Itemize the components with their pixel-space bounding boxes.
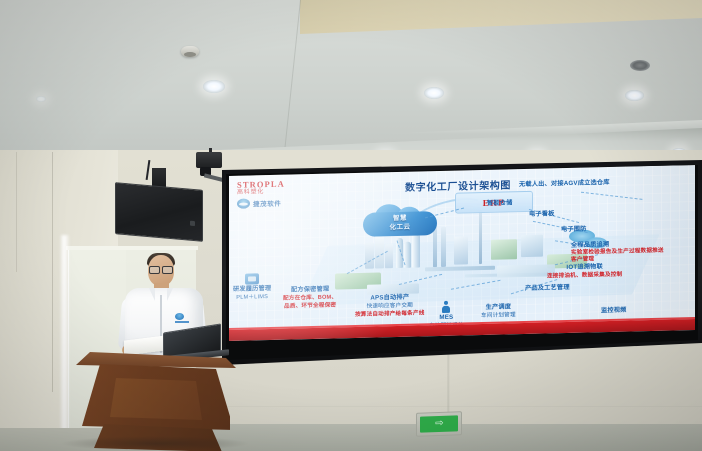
downlight-3 — [625, 90, 644, 101]
cloud-platform-graphic: 智慧 化工云 — [363, 203, 437, 241]
rd-history-icon — [245, 273, 259, 284]
left-wall-seam — [52, 152, 53, 392]
screen-face: STROPLA 高科塑化 捷茂软件 数字化工厂设计架构图 — [226, 164, 698, 360]
node-scheduling: 生产调度 车间计划管理 — [481, 303, 516, 320]
slide-logo: STROPLA 高科塑化 捷茂软件 — [237, 179, 325, 209]
node-sublabel: 车间计划管理 — [481, 311, 516, 320]
mes-person-icon — [441, 301, 451, 313]
conference-room-photo: ⇨ STROPLA 高科塑化 捷茂软件 数字化工厂设计架构图 — [0, 0, 702, 451]
node-quality-full: 全程品质追溯 实验室检验报告及生产过程数据推送客户管理 — [571, 240, 667, 264]
node-iot-trace: IOT追溯物联 连接排油机、数据采集及控制 — [547, 263, 622, 281]
node-product-process: 产品及工艺管理 — [525, 284, 570, 293]
factory-building — [365, 243, 374, 269]
node-video-monitor: 监控视频 — [601, 307, 627, 316]
presenter-collar-left — [149, 288, 155, 301]
partner-name-cn: 捷茂软件 — [253, 198, 281, 209]
doorway-light-gap — [60, 235, 69, 451]
node-e-fence: 电子围防 — [561, 226, 587, 235]
wall-speaker-icon — [115, 182, 203, 242]
node-sublabel: PLM＋LIMS — [233, 293, 271, 302]
presenter-collar-right — [167, 288, 173, 301]
node-redlabel: 配方在仓库、BOM、 品质、环节全程保密 — [283, 293, 337, 310]
glasses-icon — [149, 266, 173, 272]
warehouse-block — [521, 235, 543, 258]
company-badge-icon — [175, 313, 189, 323]
node-label: 智能仓储 — [487, 199, 513, 208]
node-redlabel: 按算法自动排产给每条产线 — [355, 309, 425, 319]
partner-logo-row: 捷茂软件 — [237, 197, 325, 209]
podium-shadow — [60, 436, 250, 451]
node-label: 电子看板 — [529, 210, 555, 219]
node-redlabel: 实验室检验报告及生产过程数据推送客户管理 — [571, 248, 667, 264]
podium-front-panel — [110, 378, 202, 420]
node-aps: APS自动排产 快速响应客户交期 按算法自动排产给每条产线 — [355, 293, 425, 319]
door-frame-top — [66, 246, 198, 250]
ceiling-projector-icon — [196, 152, 222, 168]
left-wall-seam-2 — [16, 152, 17, 272]
ceiling-seam — [0, 0, 301, 150]
reactor-unit — [454, 236, 468, 264]
node-e-kanban: 电子看板 — [529, 210, 555, 219]
warehouse-block — [491, 239, 517, 260]
node-label: 产品及工艺管理 — [525, 284, 570, 293]
brand-name-cn: 高科塑化 — [237, 188, 325, 197]
downlight-1 — [203, 80, 225, 93]
node-label: 电子围防 — [561, 226, 587, 235]
ceiling-speaker-icon — [630, 60, 650, 71]
node-rd-history: 研发履历管理 PLM＋LIMS — [233, 273, 271, 302]
projection-screen[interactable]: STROPLA 高科塑化 捷茂软件 数字化工厂设计架构图 — [222, 160, 702, 365]
factory-building — [385, 244, 393, 268]
node-formula-security: 配方保密管理 配方在仓库、BOM、 品质、环节全程保密 — [283, 285, 337, 310]
slide-content: STROPLA 高科塑化 捷茂软件 数字化工厂设计架构图 — [229, 165, 695, 341]
emergency-exit-sign: ⇨ — [416, 411, 462, 437]
exit-sign-glyph: ⇨ — [420, 415, 458, 432]
partner-logo-icon — [237, 199, 250, 209]
node-label: 监控视频 — [601, 307, 627, 316]
cloud-label-line2: 化工云 — [363, 222, 437, 233]
node-smart-warehouse: 智能仓储 — [487, 199, 513, 208]
downlight-2 — [424, 87, 444, 99]
smoke-detector-icon — [181, 46, 199, 57]
downlight-7 — [36, 96, 46, 102]
